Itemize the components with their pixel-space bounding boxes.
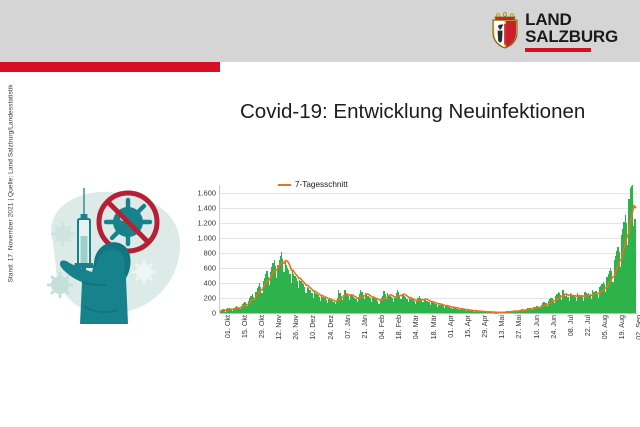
x-axis-tick-label: 12. Nov <box>274 315 283 340</box>
source-note-text: Stand: 17. November 2021 | Quelle: Land … <box>8 84 15 282</box>
x-axis-tick-label: 04. Feb <box>377 315 386 339</box>
covid-new-infections-chart: 7-Tagesschnitt 02004006008001.0001.2001.… <box>182 178 640 368</box>
x-axis-tick-label: 13. Mai <box>497 315 506 339</box>
y-axis-tick-label: 1.600 <box>198 188 217 197</box>
x-axis-tick-label: 19. Aug <box>617 315 626 339</box>
x-axis-tick-label: 29. Apr <box>480 315 489 338</box>
x-axis-tick-label: 27. Mai <box>514 315 523 339</box>
y-axis-tick-label: 1.200 <box>198 218 217 227</box>
x-axis-tick-label: 26. Nov <box>291 315 300 340</box>
plot-wrapper: 02004006008001.0001.2001.4001.600 <box>182 178 640 330</box>
x-axis-labels: 01. Okt15. Okt29. Okt12. Nov26. Nov10. D… <box>219 315 637 363</box>
logo-line-1: LAND <box>525 11 618 28</box>
x-axis-tick-label: 07. Jän <box>343 315 352 339</box>
y-axis-tick-label: 200 <box>204 293 216 302</box>
line-series-7day-average <box>220 185 637 313</box>
vaccination-hand-syringe-no-virus-illustration <box>32 178 192 330</box>
x-axis-tick-label: 21. Jän <box>360 315 369 339</box>
y-axis-tick-label: 800 <box>204 248 216 257</box>
x-axis-tick-label: 10. Dez <box>308 315 317 340</box>
plot-area <box>219 185 637 313</box>
header-accent-bar <box>0 62 220 72</box>
no-virus-sign-icon <box>99 193 157 251</box>
x-axis-tick-label: 10. Jun <box>532 315 541 339</box>
logo-line-2: SALZBURG <box>525 28 618 45</box>
x-axis-tick-label: 08. Jul <box>566 315 575 336</box>
land-salzburg-logo: LAND SALZBURG <box>492 11 618 52</box>
salzburg-coat-of-arms-icon <box>492 11 518 49</box>
x-axis-tick-label: 02. Sep <box>634 315 640 340</box>
x-axis-tick-label: 04. Mär <box>411 315 420 339</box>
x-axis-tick-label: 15. Apr <box>463 315 472 338</box>
y-axis-tick-label: 1.000 <box>198 233 217 242</box>
x-axis-tick-label: 05. Aug <box>600 315 609 339</box>
y-axis-tick-label: 1.400 <box>198 203 217 212</box>
x-axis-tick-label: 15. Okt <box>240 315 249 338</box>
x-axis-tick-label: 18. Feb <box>394 315 403 339</box>
y-axis-tick-label: 400 <box>204 278 216 287</box>
logo-underline <box>525 48 591 52</box>
source-note: Stand: 17. November 2021 | Quelle: Land … <box>4 180 18 400</box>
x-axis-tick-label: 01. Apr <box>446 315 455 338</box>
x-axis-tick-label: 24. Jun <box>549 315 558 339</box>
x-axis-tick-label: 29. Okt <box>257 315 266 338</box>
x-axis-tick-label: 24. Dez <box>326 315 335 340</box>
x-axis-tick-label: 22. Jul <box>583 315 592 336</box>
page-title: Covid-19: Entwicklung Neuinfektionen <box>240 100 585 124</box>
y-axis-tick-label: 0 <box>212 309 216 318</box>
x-axis-tick-label: 18. Mär <box>429 315 438 339</box>
y-axis-labels: 02004006008001.0001.2001.4001.600 <box>182 185 216 313</box>
y-axis-tick-label: 600 <box>204 263 216 272</box>
x-axis-tick-label: 01. Okt <box>223 315 232 338</box>
